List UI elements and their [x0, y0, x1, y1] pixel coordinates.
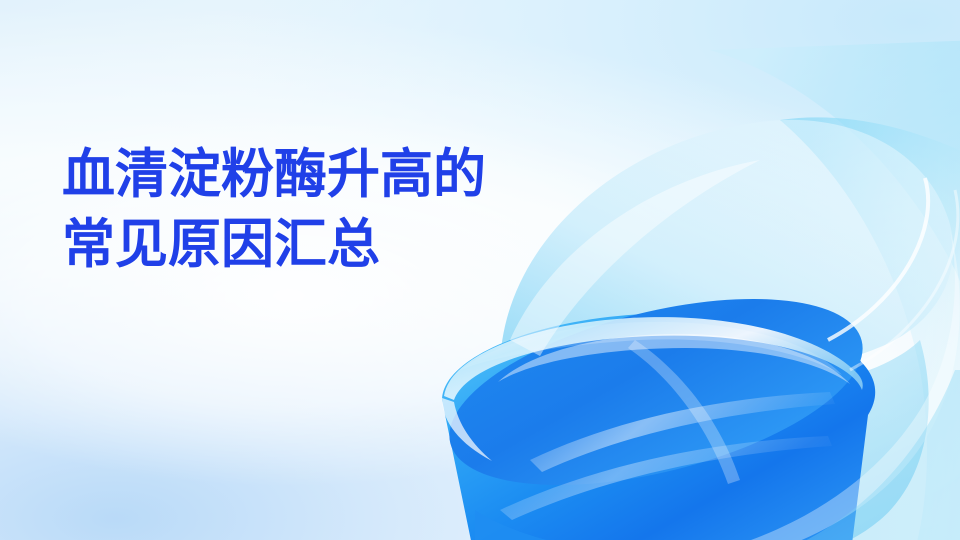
title-line-2: 常见原因汇总	[62, 210, 532, 280]
slide-canvas: 血清淀粉酶升高的 常见原因汇总	[0, 0, 960, 540]
abstract-glass-vessel-artwork	[380, 40, 960, 540]
title-line-1: 血清淀粉酶升高的	[62, 140, 532, 210]
slide-title: 血清淀粉酶升高的 常见原因汇总	[62, 140, 532, 280]
